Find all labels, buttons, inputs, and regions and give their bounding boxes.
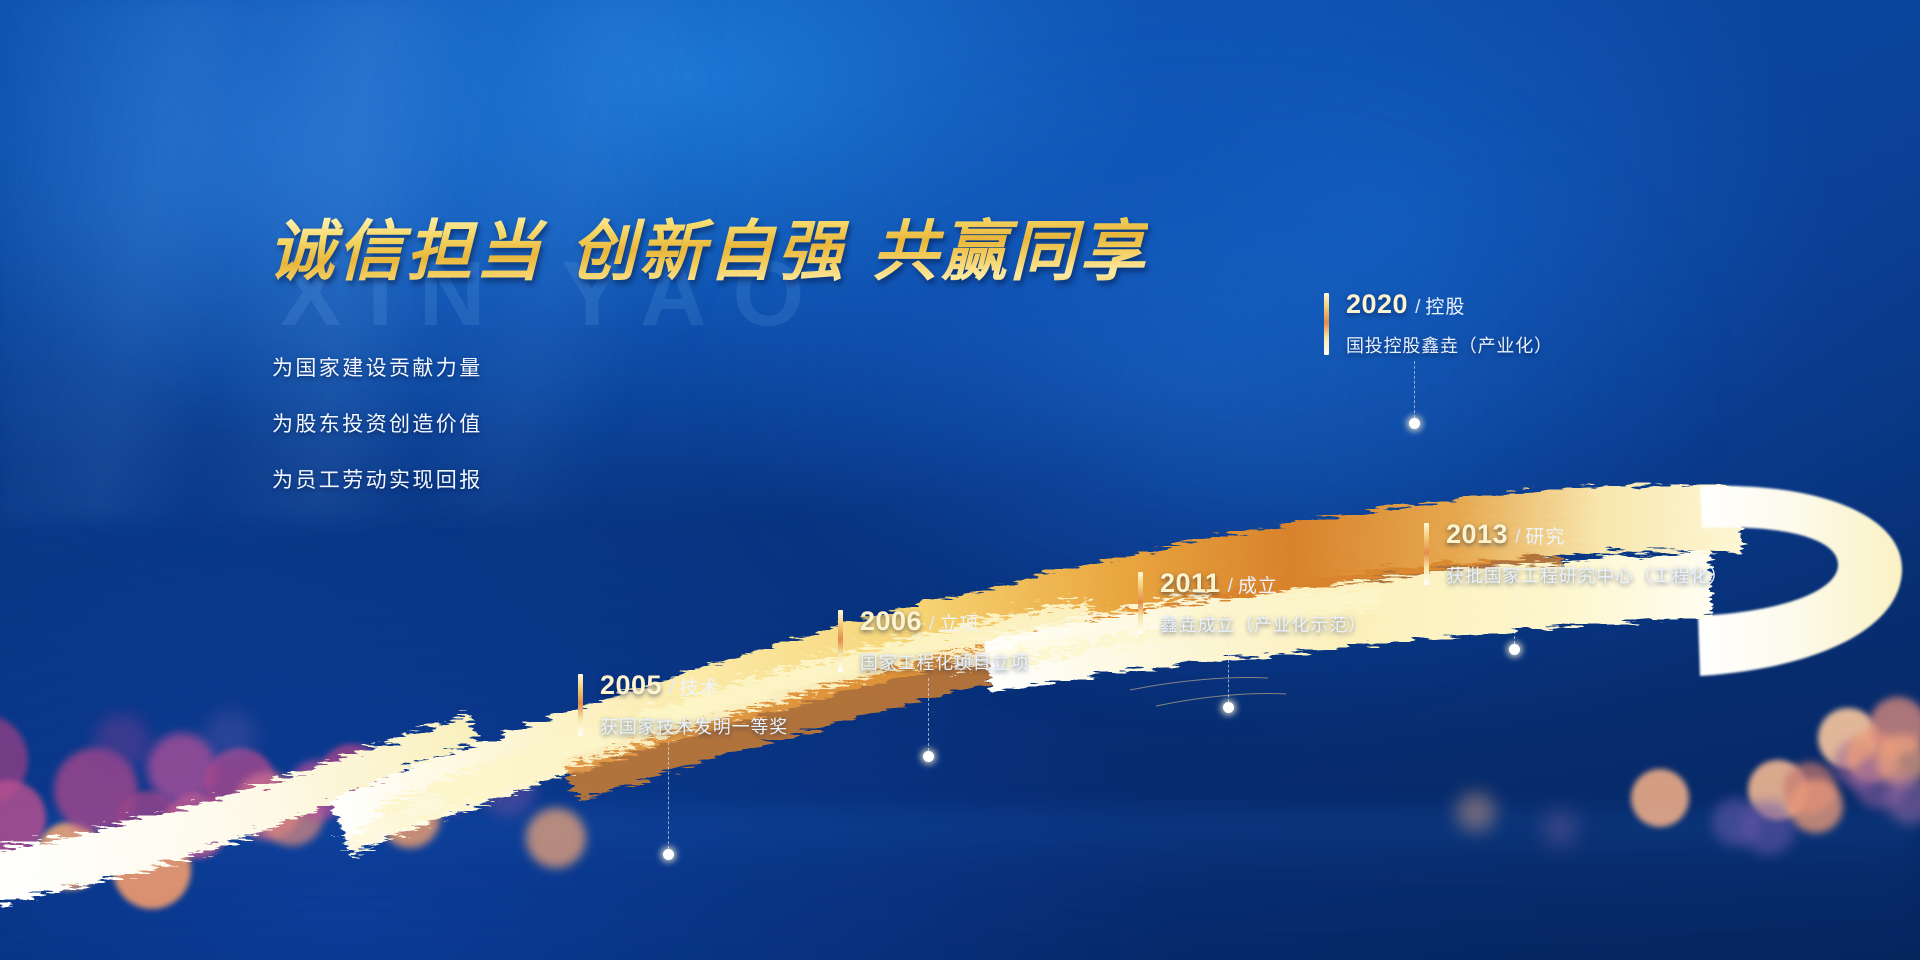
- tagline-list: 为国家建设贡献力量 为股东投资创造价值 为员工劳动实现回报: [272, 352, 483, 520]
- tagline-item: 为员工劳动实现回报: [272, 464, 483, 494]
- milestone-dot[interactable]: [663, 849, 674, 860]
- milestone-year: 2013: [1446, 519, 1508, 549]
- milestone-heading: 2005/技术: [600, 672, 788, 699]
- milestone-accent-bar: [838, 610, 843, 672]
- milestone-connector-line: [1414, 361, 1415, 423]
- milestone-accent-bar: [1138, 572, 1143, 634]
- milestone-connector-line: [928, 678, 929, 756]
- milestone-connector-line: [1514, 591, 1515, 649]
- milestone-separator: /: [669, 678, 674, 699]
- milestone-connector-line: [668, 742, 669, 854]
- milestone-year: 2006: [860, 606, 922, 636]
- poster-canvas: XIN YAO 诚信担当创新自强共赢同享 为国家建设贡献力量 为股东投资创造价值…: [0, 0, 1920, 960]
- milestone-category: 控股: [1425, 297, 1465, 318]
- timeline-milestone-2011[interactable]: 2011/成立鑫垚成立（产业化示范）: [1138, 570, 1367, 637]
- milestone-year: 2005: [600, 670, 662, 700]
- headline-part-1: 诚信担当: [268, 214, 544, 288]
- milestone-accent-bar: [578, 674, 583, 736]
- milestone-accent-bar: [1424, 523, 1429, 585]
- milestone-category: 研究: [1525, 527, 1565, 548]
- milestone-dot[interactable]: [1509, 644, 1520, 655]
- milestone-category: 成立: [1238, 576, 1278, 597]
- milestone-heading: 2013/研究: [1446, 521, 1728, 548]
- timeline-milestone-2013[interactable]: 2013/研究获批国家工程研究中心（工程化）: [1424, 521, 1728, 588]
- headline-part-3: 共赢同享: [872, 214, 1148, 288]
- milestone-connector-line: [1228, 640, 1229, 707]
- timeline-milestone-2006[interactable]: 2006/立项国家工程化项目立项: [838, 608, 1029, 675]
- milestone-description: 国投控股鑫垚（产业化）: [1346, 332, 1553, 358]
- tagline-item: 为国家建设贡献力量: [272, 352, 483, 382]
- milestone-separator: /: [1515, 527, 1520, 548]
- milestone-description: 鑫垚成立（产业化示范）: [1160, 611, 1367, 637]
- milestone-year: 2011: [1160, 568, 1221, 598]
- milestone-separator: /: [1228, 576, 1233, 597]
- headline-part-2: 创新自强: [570, 214, 846, 288]
- milestone-dot[interactable]: [1409, 418, 1420, 429]
- milestone-dot[interactable]: [923, 751, 934, 762]
- page-title: 诚信担当创新自强共赢同享: [268, 198, 1148, 294]
- milestone-category: 立项: [939, 614, 979, 635]
- milestone-separator: /: [1415, 297, 1420, 318]
- milestone-description: 获国家技术发明一等奖: [600, 713, 788, 739]
- milestone-year: 2020: [1346, 289, 1408, 319]
- milestone-heading: 2011/成立: [1160, 570, 1367, 597]
- milestone-dot[interactable]: [1223, 702, 1234, 713]
- milestone-heading: 2006/立项: [860, 608, 1029, 635]
- milestone-category: 技术: [679, 678, 719, 699]
- tagline-item: 为股东投资创造价值: [272, 408, 483, 438]
- milestone-description: 获批国家工程研究中心（工程化）: [1446, 562, 1728, 588]
- headline-block: XIN YAO 诚信担当创新自强共赢同享: [268, 198, 1148, 294]
- milestone-separator: /: [929, 614, 934, 635]
- timeline-milestone-2005[interactable]: 2005/技术获国家技术发明一等奖: [578, 672, 788, 739]
- milestone-heading: 2020/控股: [1346, 291, 1553, 318]
- timeline-milestone-2020[interactable]: 2020/控股国投控股鑫垚（产业化）: [1324, 291, 1553, 358]
- milestone-accent-bar: [1324, 293, 1329, 355]
- milestone-description: 国家工程化项目立项: [860, 649, 1029, 675]
